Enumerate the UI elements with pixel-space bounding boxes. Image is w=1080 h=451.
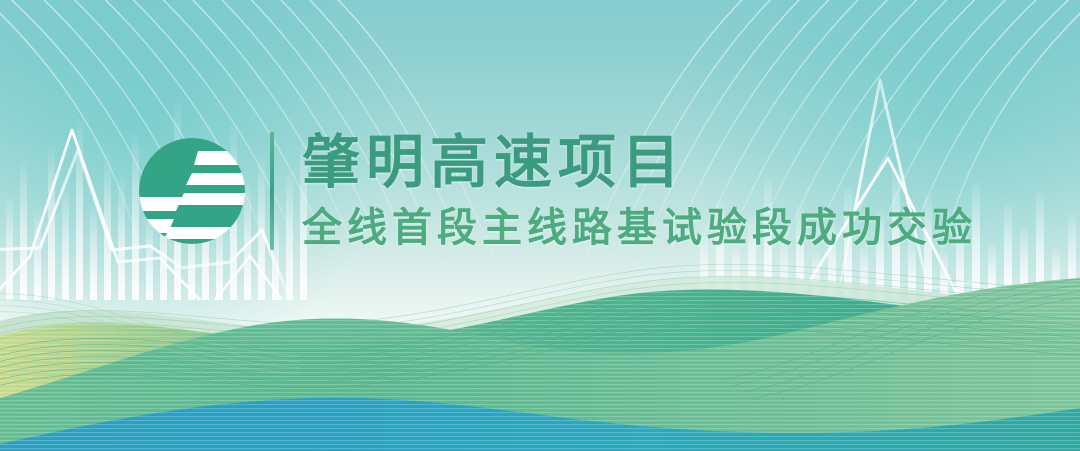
title-divider <box>270 132 274 250</box>
hill-green-main <box>0 270 1080 451</box>
contour-lines-upper <box>0 264 1080 342</box>
contour-lines-right <box>720 278 1080 398</box>
promo-banner: 肇明高速项目 全线首段主线路基试验段成功交验 <box>0 0 1080 451</box>
title-block: 肇明高速项目 全线首段主线路基试验段成功交验 <box>302 134 977 248</box>
banner-content: 肇明高速项目 全线首段主线路基试验段成功交验 <box>0 132 1080 250</box>
contour-lines <box>0 292 1080 388</box>
circular-striped-logo-icon <box>136 135 248 247</box>
ekg-line-mid <box>215 256 282 300</box>
hill-green-secondary <box>0 260 1080 451</box>
page-title: 肇明高速项目 <box>302 134 977 192</box>
contour-lines-left <box>0 294 300 374</box>
hill-blue-front <box>0 380 1080 451</box>
page-subtitle: 全线首段主线路基试验段成功交验 <box>302 208 977 248</box>
hill-pale-back <box>0 276 1080 451</box>
